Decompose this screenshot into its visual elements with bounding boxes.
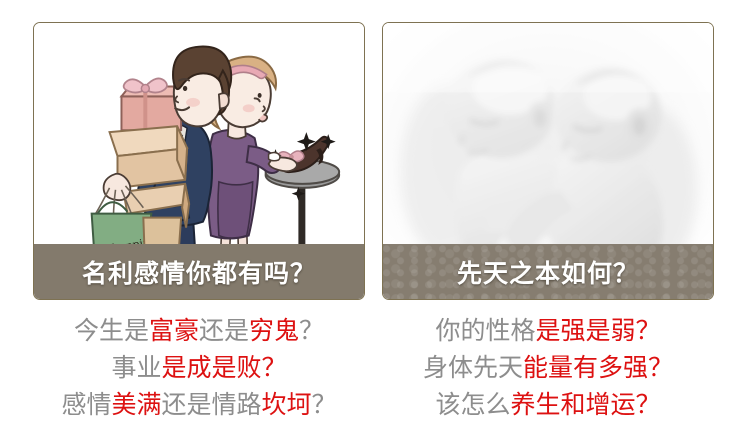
- q-seg-highlight: 美满: [111, 390, 161, 419]
- q-seg: 今生是: [74, 316, 149, 345]
- q-seg-highlight: 坎坷: [262, 390, 312, 419]
- caption-bar-left: 名利感情你都有吗？: [34, 244, 364, 299]
- q-seg-highlight: 穷鬼: [249, 316, 299, 345]
- q-seg: 感情: [61, 390, 111, 419]
- question-line: 今生是富豪还是穷鬼？: [33, 312, 365, 349]
- question-list-right: 你的性格是强是弱？ 身体先天能量有多强？ 该怎么养生和增运？: [382, 312, 714, 423]
- q-seg: 身体先天: [423, 353, 523, 382]
- q-seg-highlight: 是强是弱？: [536, 316, 661, 345]
- q-seg-highlight: 富豪: [149, 316, 199, 345]
- question-line: 事业是成是败？: [33, 349, 365, 386]
- q-seg: 还是情路: [161, 390, 261, 419]
- q-seg-highlight: 是成是败？: [162, 353, 287, 382]
- q-seg-highlight: 养生和增运？: [511, 390, 661, 419]
- q-seg: 你的性格: [435, 316, 535, 345]
- question-list-left: 今生是富豪还是穷鬼？ 事业是成是败？ 感情美满还是情路坎坷？: [33, 312, 365, 423]
- caption-bar-right: 先天之本如何？: [383, 244, 713, 299]
- q-seg: ？: [299, 316, 324, 345]
- caption-label-right: 先天之本如何？: [457, 254, 639, 290]
- card-constitution[interactable]: 先天之本如何？: [382, 22, 714, 300]
- q-seg: 该怎么: [435, 390, 510, 419]
- question-line: 该怎么养生和增运？: [382, 386, 714, 423]
- q-seg: 还是: [199, 316, 249, 345]
- promo-page: Shopping: [0, 0, 750, 445]
- q-seg: ？: [312, 390, 337, 419]
- q-seg-highlight: 能量有多强？: [523, 353, 673, 382]
- q-seg: 事业: [111, 353, 161, 382]
- question-line: 身体先天能量有多强？: [382, 349, 714, 386]
- panel-constitution: 先天之本如何？ 你的性格是强是弱？ 身体先天能量有多强？ 该怎么养生和增运？: [382, 0, 718, 445]
- card-wealth-love[interactable]: Shopping: [33, 22, 365, 300]
- caption-label-left: 名利感情你都有吗？: [82, 254, 316, 290]
- question-line: 感情美满还是情路坎坷？: [33, 386, 365, 423]
- question-line: 你的性格是强是弱？: [382, 312, 714, 349]
- panel-wealth-love: Shopping: [33, 0, 369, 445]
